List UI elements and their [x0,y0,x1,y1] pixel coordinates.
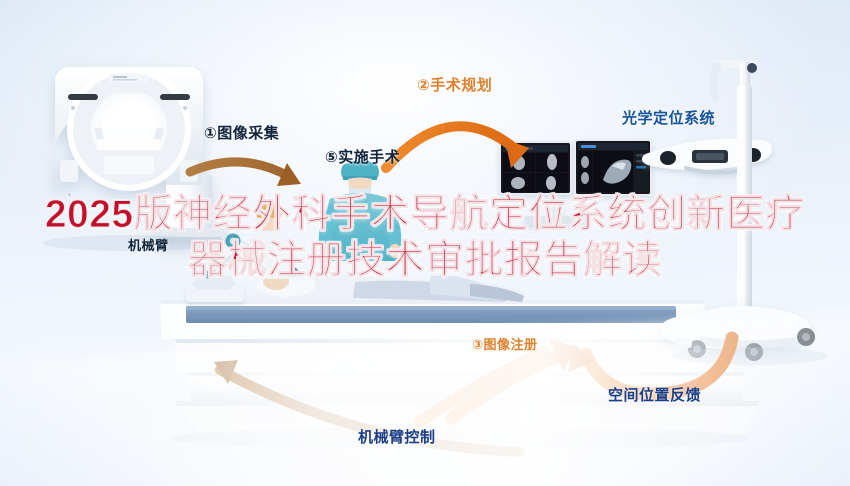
label-spatial-position-feedback: 空间位置反馈 [608,388,701,403]
patient [250,272,524,302]
label-image-registration: ③图像注册 [472,338,538,351]
label-robot-arm: 机械臂 [128,239,169,252]
label-image-acquisition: ①图像采集 [204,126,279,141]
label-surgical-planning: ②手术规划 [417,78,492,93]
label-perform-surgery: ⑤实施手术 [325,150,400,165]
label-robot-arm-control: 机械臂控制 [358,430,436,445]
svg-text:●: ● [68,192,71,198]
ct-scanner: ● [52,67,230,243]
poster-canvas: ● [0,0,850,486]
label-optical-positioning-system: 光学定位系统 [622,111,715,126]
surgeon [319,161,402,262]
assistant [247,203,291,280]
